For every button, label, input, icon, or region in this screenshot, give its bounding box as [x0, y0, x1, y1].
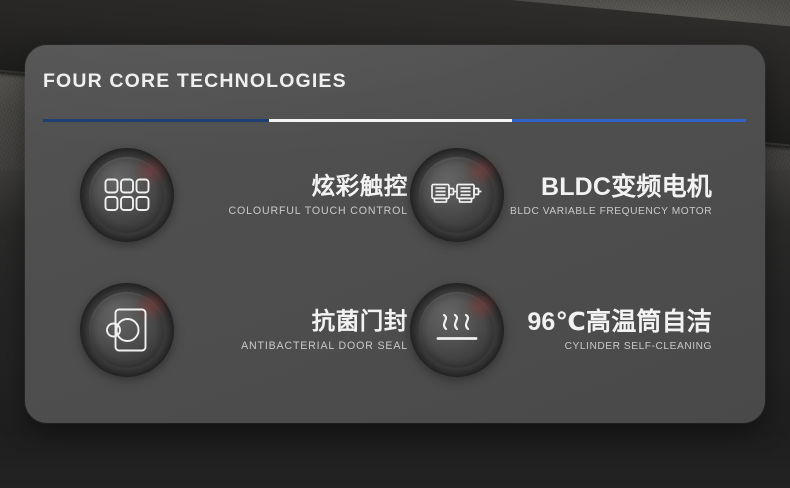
feature-item-self-cleaning[interactable]: 96℃高温筒自洁 CYLINDER SELF-CLEANING — [410, 278, 755, 382]
feature-card: FOUR CORE TECHNOLOGIES — [25, 45, 765, 423]
page-title: FOUR CORE TECHNOLOGIES — [43, 70, 347, 93]
bldc-motor-icon — [410, 148, 504, 242]
feature-title-en: CYLINDER SELF-CLEANING — [510, 341, 712, 352]
feature-title-cn: 96℃高温筒自洁 — [510, 308, 712, 337]
feature-labels: BLDC变频电机 BLDC VARIABLE FREQUENCY MOTOR — [504, 173, 755, 217]
feature-title-en: COLOURFUL TOUCH CONTROL — [174, 205, 408, 217]
door-seal-icon — [80, 283, 174, 377]
steam-heat-icon — [410, 283, 504, 377]
divider-segment-blue — [512, 119, 746, 122]
feature-item-touch-control[interactable]: 炫彩触控 COLOURFUL TOUCH CONTROL — [80, 143, 425, 247]
feature-title-cn: 炫彩触控 — [174, 173, 408, 200]
feature-grid: 炫彩触控 COLOURFUL TOUCH CONTROL — [25, 138, 765, 423]
feature-labels: 96℃高温筒自洁 CYLINDER SELF-CLEANING — [504, 308, 755, 352]
feature-title-cn: BLDC变频电机 — [510, 173, 712, 202]
feature-labels: 抗菌门封 ANTIBACTERIAL DOOR SEAL — [174, 308, 425, 351]
feature-icon-orb — [80, 283, 174, 377]
title-divider — [43, 119, 746, 122]
feature-icon-orb — [410, 283, 504, 377]
divider-segment-navy — [43, 119, 269, 122]
feature-title-en: BLDC VARIABLE FREQUENCY MOTOR — [510, 206, 712, 217]
feature-title-cn: 抗菌门封 — [174, 308, 408, 335]
feature-item-door-seal[interactable]: 抗菌门封 ANTIBACTERIAL DOOR SEAL — [80, 278, 425, 382]
feature-item-bldc-motor[interactable]: BLDC变频电机 BLDC VARIABLE FREQUENCY MOTOR — [410, 143, 755, 247]
feature-title-en: ANTIBACTERIAL DOOR SEAL — [174, 340, 408, 352]
feature-icon-orb — [410, 148, 504, 242]
promo-banner: FOUR CORE TECHNOLOGIES — [0, 0, 790, 488]
feature-icon-orb — [80, 148, 174, 242]
divider-segment-white — [269, 119, 512, 122]
feature-labels: 炫彩触控 COLOURFUL TOUCH CONTROL — [174, 173, 425, 216]
touch-panel-grid-icon — [80, 148, 174, 242]
